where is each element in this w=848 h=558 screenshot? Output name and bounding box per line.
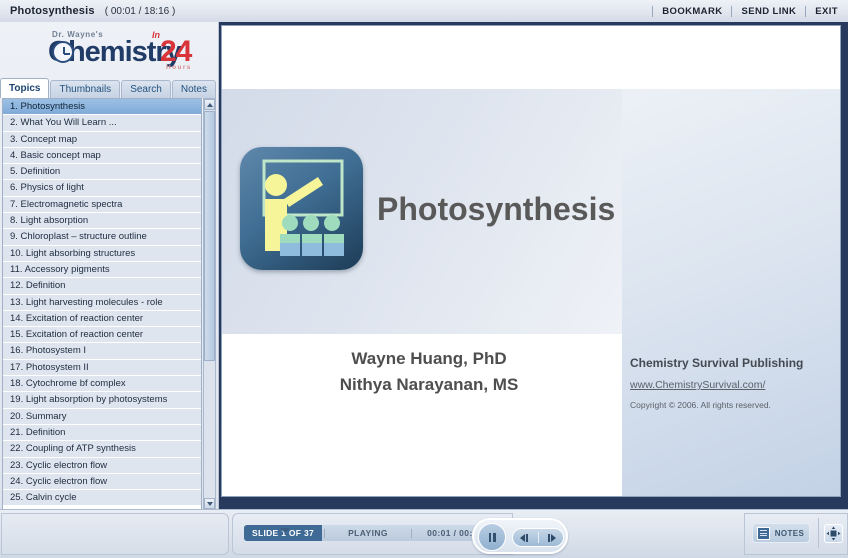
bookmark-link[interactable]: BOOKMARK	[662, 6, 722, 17]
list-item[interactable]: 12. Definition	[3, 278, 201, 294]
tab-notes[interactable]: Notes	[172, 80, 216, 98]
list-item[interactable]: 3. Concept map	[3, 132, 201, 148]
list-item[interactable]: 17. Photosystem II	[3, 360, 201, 376]
brand-logo: Dr. Wayne's Chemistry In 24 Hours	[0, 24, 216, 76]
next-slide-button[interactable]	[542, 534, 564, 542]
previous-slide-button[interactable]	[513, 534, 535, 542]
player-toolbar: SLIDE 1 OF 37 PLAYING 00:01 / 00:08	[0, 509, 848, 558]
slide-stage[interactable]: Photosynthesis Wayne Huang, PhD Nithya N…	[221, 25, 841, 497]
total-time-label: ( 00:01 / 18:16 )	[105, 6, 176, 17]
playback-state: PLAYING	[327, 528, 409, 538]
publisher-name: Chemistry Survival Publishing	[630, 356, 835, 370]
author-line-1: Wayne Huang, PhD	[234, 346, 624, 372]
slide-title: Photosynthesis	[377, 191, 615, 228]
author-line-2: Nithya Narayanan, MS	[234, 372, 624, 398]
list-item[interactable]: 14. Excitation of reaction center	[3, 311, 201, 327]
playback-status-strip: SLIDE 1 OF 37 PLAYING 00:01 / 00:08	[244, 525, 496, 541]
list-item[interactable]: 8. Light absorption	[3, 213, 201, 229]
triangle-down-icon	[207, 502, 213, 506]
list-item[interactable]: 9. Chloroplast – structure outline	[3, 229, 201, 245]
notes-button-label: NOTES	[770, 529, 809, 538]
scroll-down-icon[interactable]	[204, 498, 215, 509]
tab-thumbnails[interactable]: Thumbnails	[50, 80, 120, 98]
list-item[interactable]: 19. Light absorption by photosystems	[3, 392, 201, 408]
exit-link[interactable]: EXIT	[815, 6, 838, 17]
list-item[interactable]: 11. Accessory pigments	[3, 262, 201, 278]
slide-top-band	[222, 26, 840, 89]
list-item[interactable]: 7. Electromagnetic spectra	[3, 197, 201, 213]
step-controls	[512, 528, 564, 547]
scrollbar-thumb[interactable]	[204, 111, 215, 361]
divider	[411, 529, 412, 538]
bar-icon	[526, 534, 528, 542]
slide-canvas: Photosynthesis Wayne Huang, PhD Nithya N…	[222, 26, 840, 496]
list-item[interactable]: 25. Calvin cycle	[3, 490, 201, 506]
sidebar-tabs: Topics Thumbnails Search Notes	[0, 78, 216, 98]
list-item[interactable]: 16. Photosystem I	[3, 343, 201, 359]
slide-publisher-block: Chemistry Survival Publishing www.Chemis…	[630, 356, 835, 410]
list-item[interactable]: 2. What You Will Learn ...	[3, 115, 201, 131]
divider	[805, 6, 806, 17]
topic-list-scrollbar[interactable]	[203, 98, 216, 510]
list-item[interactable]: 15. Excitation of reaction center	[3, 327, 201, 343]
course-player-window: Photosynthesis ( 00:01 / 18:16 ) BOOKMAR…	[0, 0, 848, 557]
list-item[interactable]: 23. Cyclic electron flow	[3, 458, 201, 474]
logo-hours: Hours	[166, 64, 192, 71]
title-bar-actions: BOOKMARK SEND LINK EXIT	[643, 6, 848, 17]
list-item[interactable]: 4. Basic concept map	[3, 148, 201, 164]
divider	[324, 529, 325, 538]
triangle-left-icon	[520, 534, 525, 542]
bar-icon	[548, 534, 550, 542]
notes-button[interactable]: NOTES	[752, 523, 810, 543]
list-item[interactable]: 10. Light absorbing structures	[3, 246, 201, 262]
list-item[interactable]: 1. Photosynthesis	[3, 99, 201, 115]
list-item[interactable]: 22. Coupling of ATP synthesis	[3, 441, 201, 457]
slide-side-panel	[622, 66, 840, 496]
document-icon	[757, 527, 770, 540]
divider	[652, 6, 653, 17]
progress-caret-icon	[280, 528, 290, 533]
fullscreen-button[interactable]	[824, 524, 843, 543]
pause-button[interactable]	[478, 523, 506, 551]
title-bar: Photosynthesis ( 00:01 / 18:16 ) BOOKMAR…	[0, 0, 848, 23]
publisher-url-link[interactable]: www.ChemistrySurvival.com/	[630, 379, 835, 391]
transport-controls	[472, 518, 568, 554]
divider	[818, 518, 819, 548]
copyright-text: Copyright © 2006. All rights reserved.	[630, 400, 835, 410]
expand-icon	[826, 526, 841, 541]
scroll-up-icon[interactable]	[204, 99, 215, 110]
page-title: Photosynthesis	[10, 5, 95, 17]
logo-in: In	[152, 30, 160, 40]
pause-icon	[489, 533, 496, 542]
topic-list[interactable]: 1. Photosynthesis 2. What You Will Learn…	[2, 98, 202, 510]
divider	[731, 6, 732, 17]
list-item[interactable]: 13. Light harvesting molecules - role	[3, 295, 201, 311]
clock-icon	[52, 41, 74, 63]
list-item[interactable]: 6. Physics of light	[3, 180, 201, 196]
presentation-icon	[240, 147, 363, 270]
slide-authors: Wayne Huang, PhD Nithya Narayanan, MS	[234, 346, 624, 398]
triangle-right-icon	[551, 534, 556, 542]
send-link-link[interactable]: SEND LINK	[741, 6, 796, 17]
triangle-up-icon	[207, 103, 213, 107]
tab-search[interactable]: Search	[121, 80, 171, 98]
tab-topics[interactable]: Topics	[0, 78, 49, 98]
list-item[interactable]: 21. Definition	[3, 425, 201, 441]
list-item[interactable]: 20. Summary	[3, 409, 201, 425]
teacher-board-icon	[240, 147, 363, 270]
list-item[interactable]: 18. Cytochrome bf complex	[3, 376, 201, 392]
list-item[interactable]: 24. Cyclic electron flow	[3, 474, 201, 490]
list-item[interactable]: 5. Definition	[3, 164, 201, 180]
divider	[538, 532, 539, 543]
toolbar-left-pane	[1, 513, 229, 555]
